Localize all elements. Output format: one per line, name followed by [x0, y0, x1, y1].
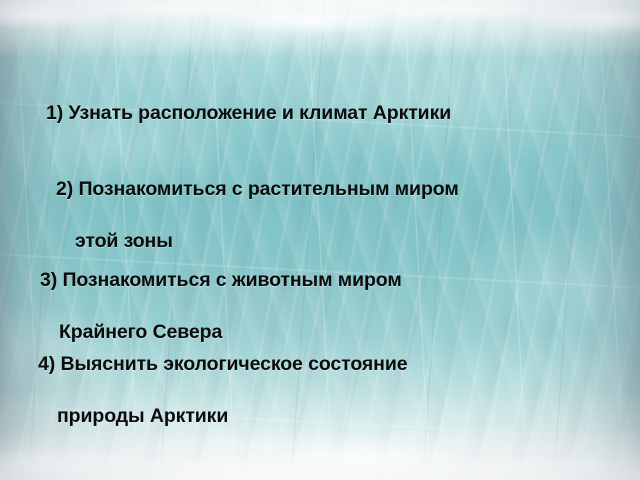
objective-4-line-1: 4) Выяснить экологическое состояние	[38, 351, 408, 377]
objective-1-line-1: 1) Узнать расположение и климат Арктики	[46, 100, 451, 126]
objectives-list: 1) Узнать расположение и климат Арктики …	[0, 0, 640, 480]
objective-2-line-1: 2) Познакомиться с растительным миром	[56, 176, 459, 202]
objective-4-line-2: природы Арктики	[38, 403, 408, 429]
presentation-slide: 1) Узнать расположение и климат Арктики …	[0, 0, 640, 480]
objective-3-line-1: 3) Познакомиться с животным миром	[40, 267, 402, 293]
objective-item-4: 4) Выяснить экологическое состояние прир…	[38, 325, 408, 455]
objective-item-1: 1) Узнать расположение и климат Арктики	[46, 74, 451, 152]
